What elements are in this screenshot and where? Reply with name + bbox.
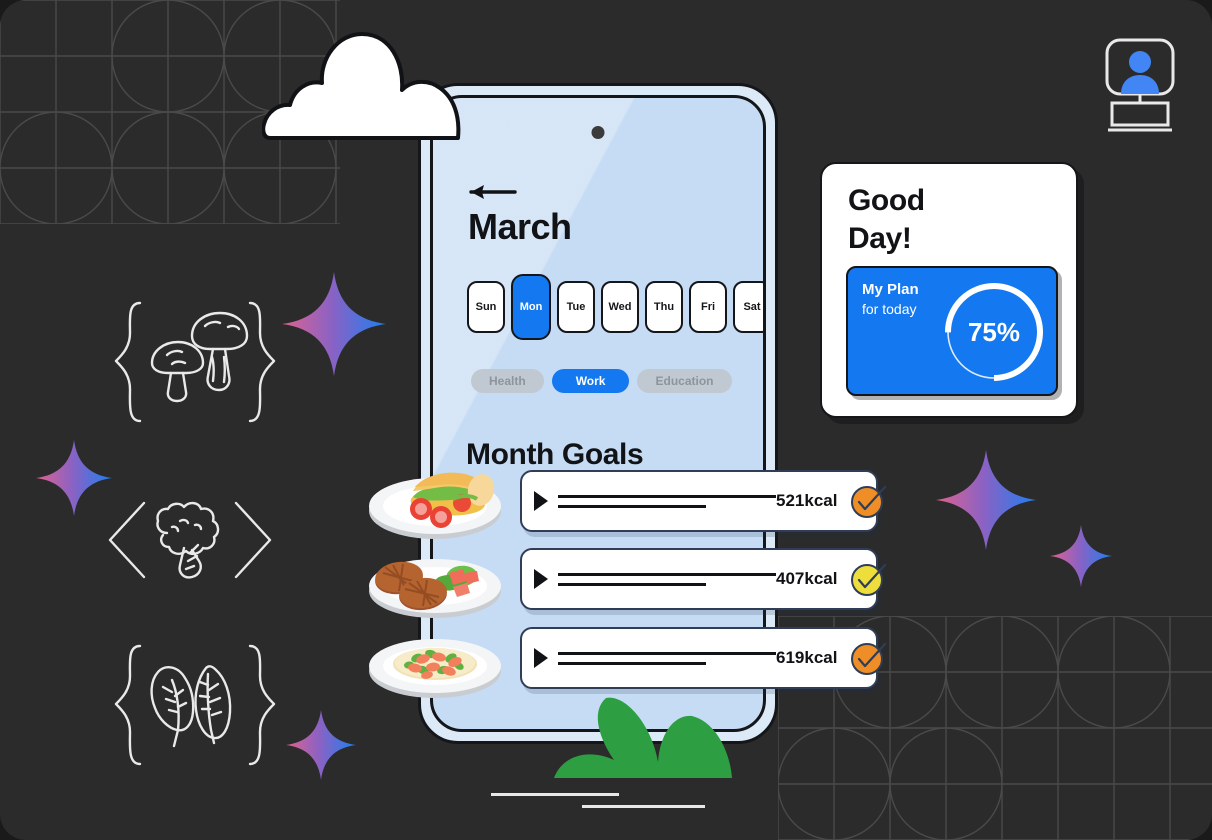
day-pill-sat[interactable]: Sat <box>733 281 766 333</box>
day-pill-sun[interactable]: Sun <box>467 281 505 333</box>
mushrooms-icon-group <box>110 295 280 435</box>
spinach-leaves-icon-group <box>112 638 278 778</box>
goal-calories: 407kcal <box>776 569 837 589</box>
page-title: March <box>468 206 572 248</box>
progress-value: 75% <box>938 276 1050 388</box>
sparkle-icon <box>282 272 386 381</box>
goal-row[interactable]: 407kcal <box>520 548 878 610</box>
plan-label-group: My Plan for today <box>862 280 919 318</box>
goal-row[interactable]: 521kcal <box>520 470 878 532</box>
sparkle-icon <box>936 450 1036 555</box>
plan-title: My Plan <box>862 281 919 298</box>
chip-work[interactable]: Work <box>552 369 630 393</box>
goal-calories: 521kcal <box>776 491 837 511</box>
back-arrow-icon[interactable] <box>469 183 517 206</box>
check-badge-icon[interactable] <box>849 558 891 600</box>
good-day-card: Good Day! My Plan for today 75% <box>820 162 1078 418</box>
goal-placeholder-lines <box>558 652 776 665</box>
sparkle-icon <box>286 710 356 785</box>
play-triangle-icon[interactable] <box>534 648 548 668</box>
sparkle-icon <box>1050 525 1112 592</box>
day-pill-thu[interactable]: Thu <box>645 281 683 333</box>
video-monitor-person-icon[interactable] <box>1104 37 1176 138</box>
goal-row[interactable]: 619kcal <box>520 627 878 689</box>
divider-line <box>582 805 705 808</box>
grass-bush-icon <box>540 690 740 785</box>
day-selector[interactable]: Sun Mon Tue Wed Thu Fri Sat <box>467 274 766 340</box>
check-badge-icon[interactable] <box>849 637 891 679</box>
day-pill-tue[interactable]: Tue <box>557 281 595 333</box>
goal-placeholder-lines <box>558 495 776 508</box>
good-day-title: Good Day! <box>848 182 925 259</box>
play-triangle-icon[interactable] <box>534 491 548 511</box>
cloud-icon <box>262 28 490 149</box>
category-filter-row[interactable]: Health Work Education <box>471 369 732 393</box>
steak-plate-icon <box>365 543 505 628</box>
goal-placeholder-lines <box>558 573 776 586</box>
play-triangle-icon[interactable] <box>534 569 548 589</box>
chip-education[interactable]: Education <box>637 369 731 393</box>
day-pill-wed[interactable]: Wed <box>601 281 639 333</box>
plan-subtitle: for today <box>862 300 919 318</box>
my-plan-tile[interactable]: My Plan for today 75% <box>846 266 1058 396</box>
pasta-plate-icon <box>365 623 505 708</box>
sparkle-icon <box>36 440 112 521</box>
canvas-root: March Sun Mon Tue Wed Thu Fri Sat Health… <box>0 0 1212 840</box>
sandwich-plate-icon <box>365 455 505 550</box>
chip-health[interactable]: Health <box>471 369 544 393</box>
broccoli-icon-group <box>104 495 276 590</box>
day-pill-fri[interactable]: Fri <box>689 281 727 333</box>
day-pill-mon[interactable]: Mon <box>511 274 551 340</box>
check-badge-icon[interactable] <box>849 480 891 522</box>
divider-line <box>491 793 619 796</box>
camera-dot-icon <box>592 126 605 139</box>
goal-calories: 619kcal <box>776 648 837 668</box>
